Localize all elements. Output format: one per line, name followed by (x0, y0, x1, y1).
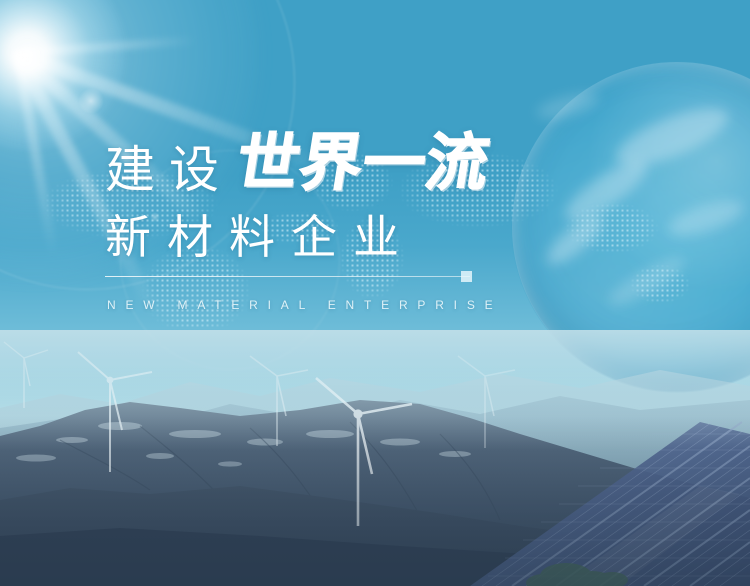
headline-divider (105, 276, 470, 277)
headline-line-1: 建设 世界一流 (105, 133, 489, 195)
headline-block: 建设 世界一流 新材料企业 NEW MATERIAL ENTERPRISE (0, 0, 750, 586)
hero-banner: 建设 世界一流 新材料企业 NEW MATERIAL ENTERPRISE (0, 0, 750, 586)
headline-line-2: 新材料企业 (105, 214, 415, 260)
headline-divider-cap (461, 271, 472, 282)
headline-emphasis: 世界一流 (232, 133, 494, 195)
tagline: NEW MATERIAL ENTERPRISE (107, 298, 502, 312)
headline-prefix: 建设 (105, 145, 233, 195)
